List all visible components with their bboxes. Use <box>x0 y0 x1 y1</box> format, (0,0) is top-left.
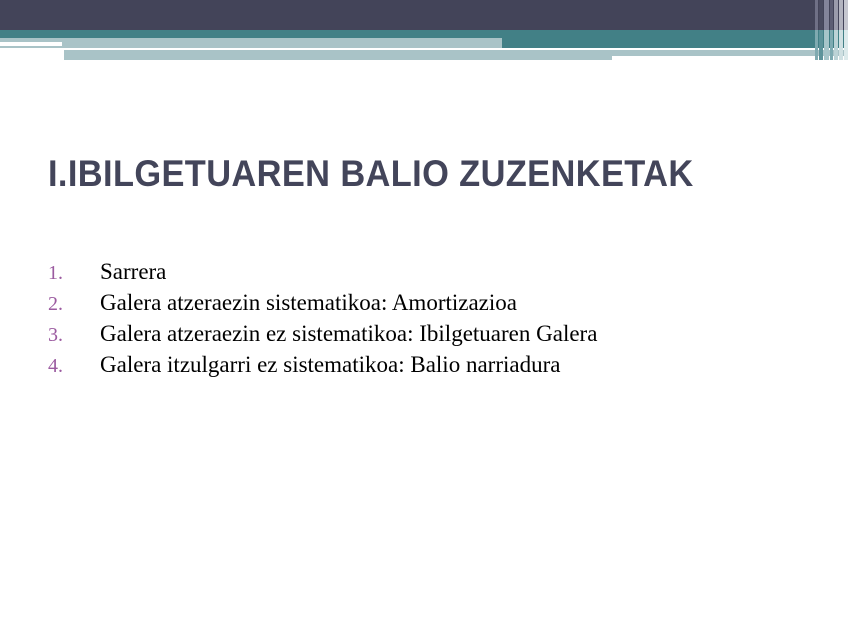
list-item: 2.Galera atzeraezin sistematikoa: Amorti… <box>48 287 808 318</box>
header-teal-band-right <box>502 30 848 48</box>
list-item: 1.Sarrera <box>48 256 808 287</box>
accent-stripe <box>834 0 838 30</box>
accent-stripe <box>815 30 818 60</box>
accent-stripe <box>824 30 829 60</box>
accent-stripe <box>830 0 833 30</box>
list-item-text: Galera atzeraezin sistematikoa: Amortiza… <box>100 287 517 318</box>
accent-stripe <box>844 30 848 60</box>
list-item-text: Galera itzulgarri ez sistematikoa: Balio… <box>100 349 560 380</box>
header-teal-band-left <box>0 30 502 38</box>
list-item-number: 4. <box>48 351 100 382</box>
accent-stripe <box>824 0 829 30</box>
list-item-number: 2. <box>48 289 100 320</box>
accent-stripe <box>819 30 823 60</box>
list-item-text: Sarrera <box>100 256 166 287</box>
accent-stripe <box>815 0 818 30</box>
header-white-sliver-left <box>0 42 62 46</box>
header-light-band-left <box>0 38 502 48</box>
accent-stripe <box>834 30 838 60</box>
header-white-cut-right <box>612 56 848 60</box>
header-banner <box>0 0 848 60</box>
list-item-number: 1. <box>48 258 100 289</box>
accent-stripe <box>839 0 843 30</box>
accent-stripe <box>819 0 823 30</box>
list-item-text: Galera atzeraezin ez sistematikoa: Ibilg… <box>100 318 597 349</box>
header-white-cut-left <box>0 50 64 60</box>
list-item-number: 3. <box>48 320 100 351</box>
list-item: 3.Galera atzeraezin ez sistematikoa: Ibi… <box>48 318 808 349</box>
accent-stripe <box>830 30 833 60</box>
slide-content-list: 1.Sarrera2.Galera atzeraezin sistematiko… <box>48 256 808 380</box>
header-dark-band <box>0 0 848 30</box>
accent-stripe <box>839 30 843 60</box>
accent-stripe <box>844 0 848 30</box>
slide-title: I.IBILGETUAREN BALIO ZUZENKETAK <box>48 153 755 195</box>
list-item: 4.Galera itzulgarri ez sistematikoa: Bal… <box>48 349 808 380</box>
